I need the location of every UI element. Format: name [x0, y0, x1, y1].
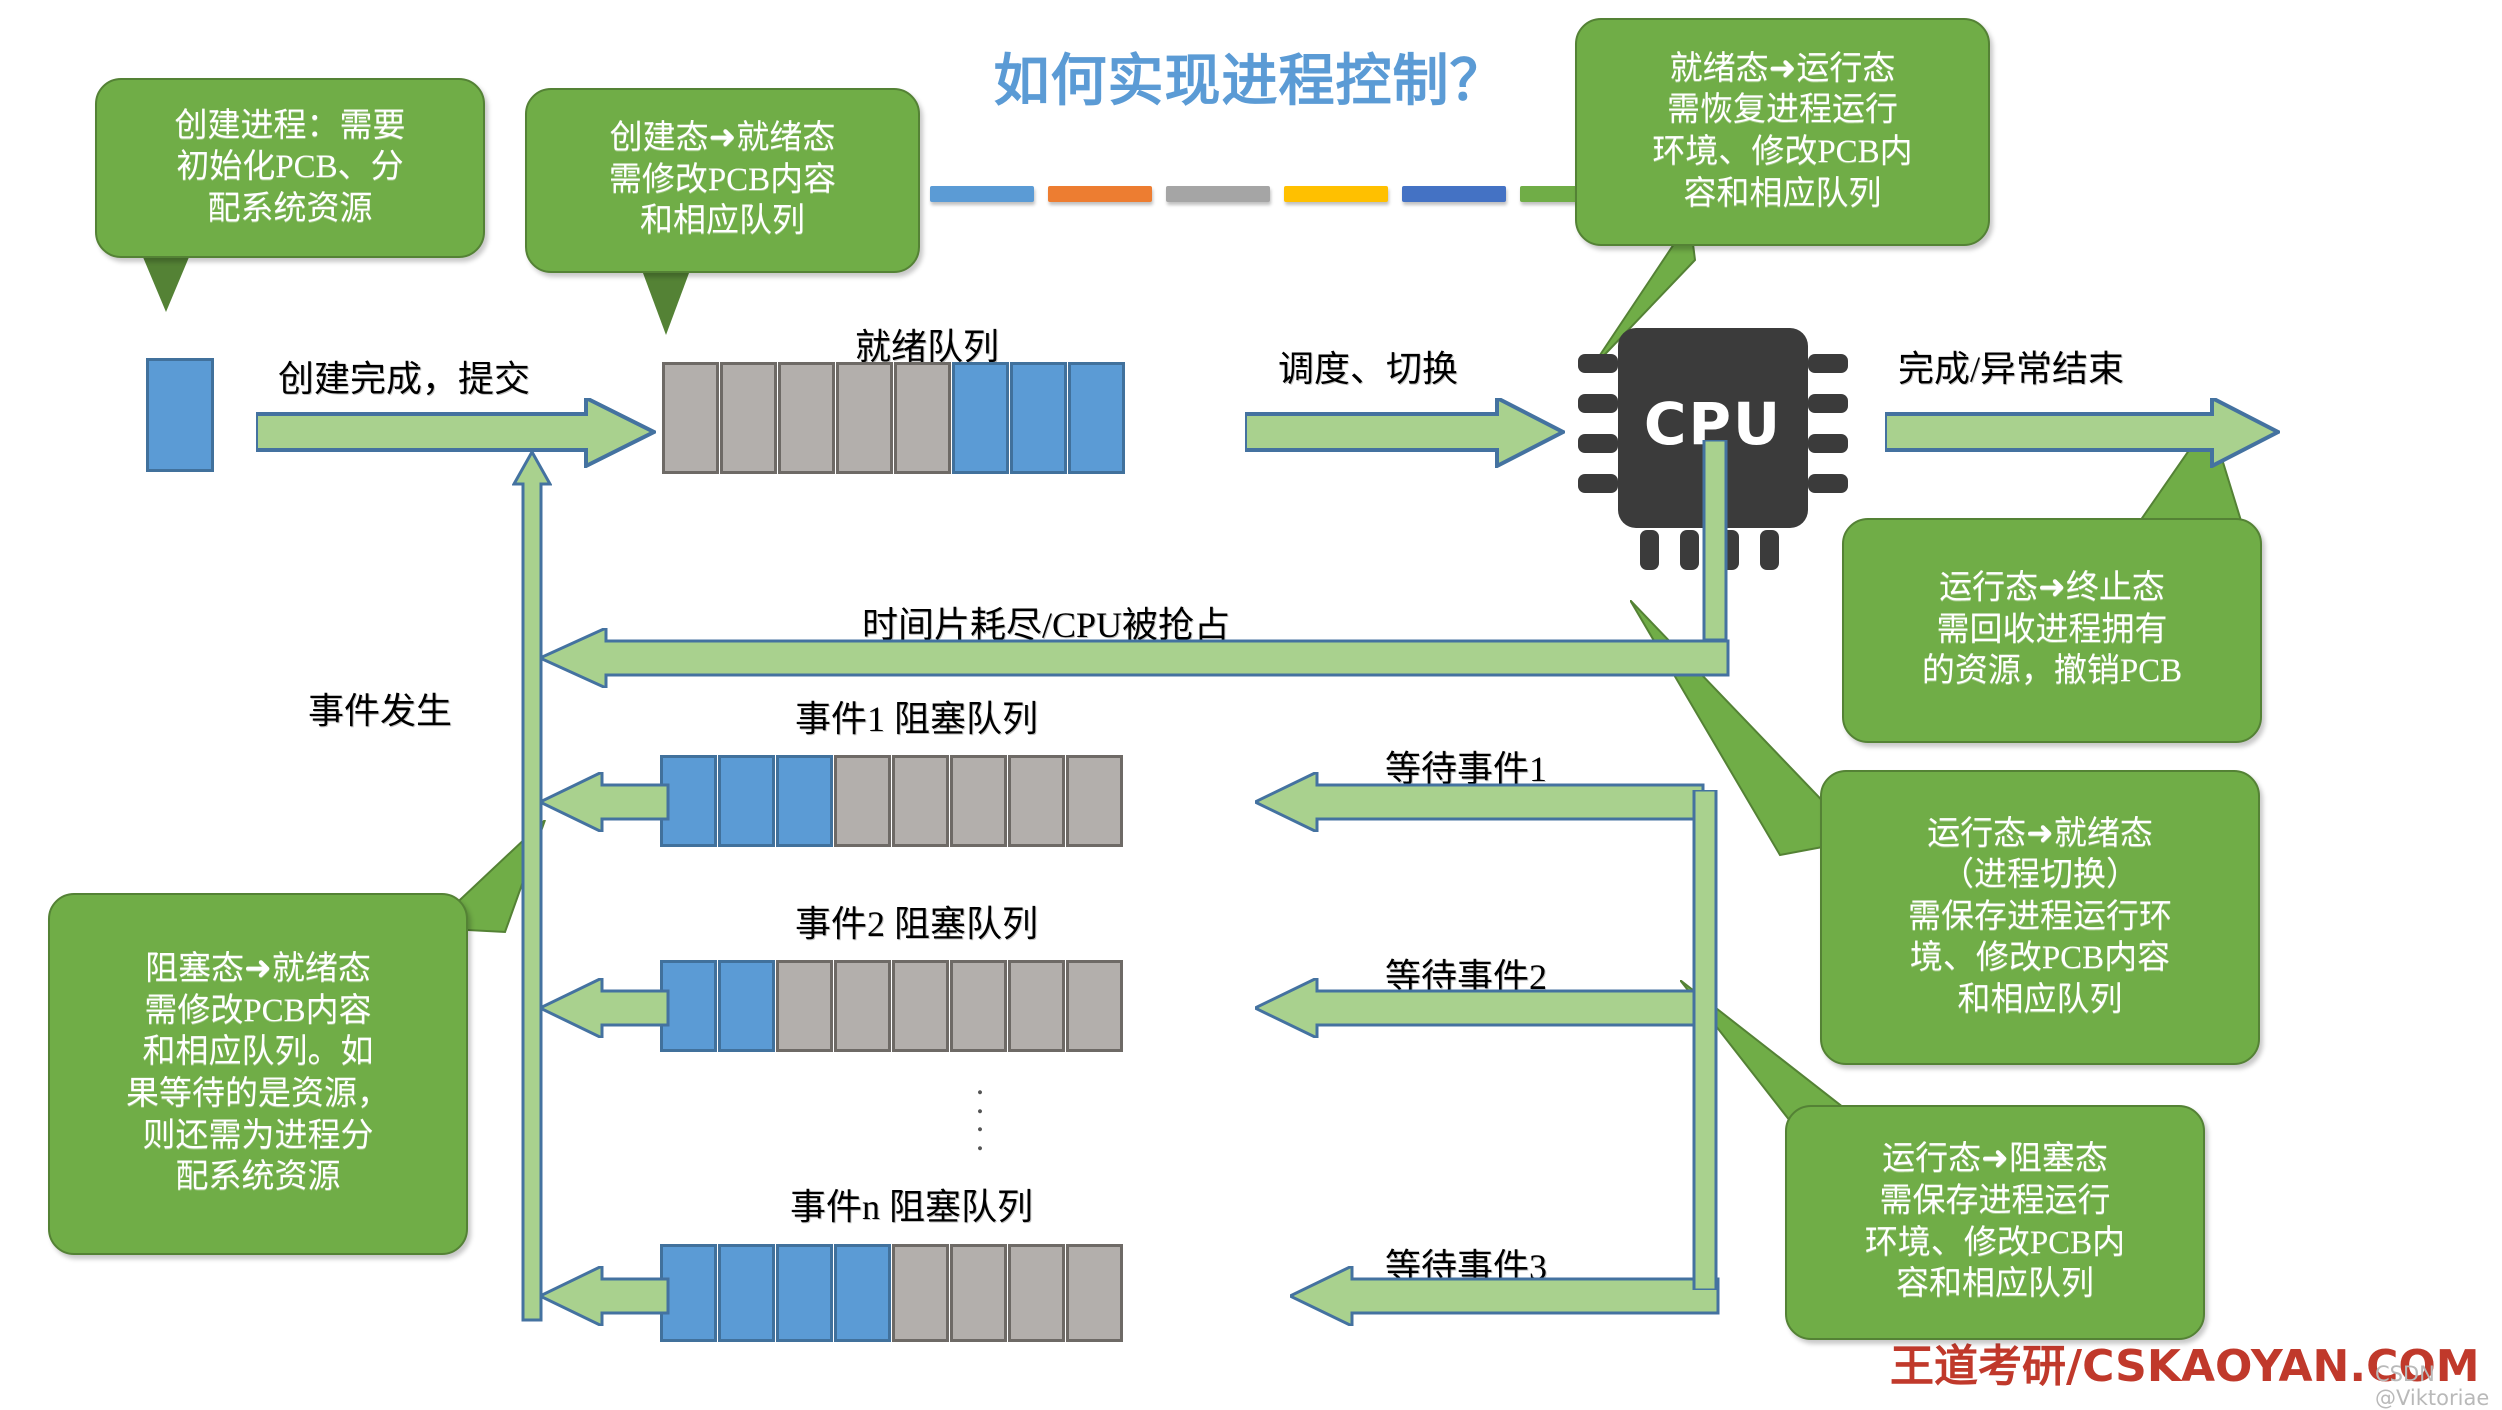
title-color-bar: [930, 186, 1570, 204]
callout-create-process: 创建进程：需要 初始化PCB、分 配系统资源: [95, 78, 485, 258]
label-event-occurs: 事件发生: [308, 682, 452, 734]
queue-cell: [894, 362, 951, 474]
queue-cell: [1068, 362, 1125, 474]
queue-cell: [836, 362, 893, 474]
arrow-wait-event-3: [1290, 1266, 1720, 1326]
arrow-return-to-ready: [512, 452, 552, 1322]
callout-text: 创建进程：需要 初始化PCB、分 配系统资源: [175, 106, 406, 231]
queue-cell: [662, 362, 719, 474]
label-block-queue-n: 事件n 阻塞队列: [790, 1178, 1033, 1230]
callout-text: 运行态➜终止态 需回收进程拥有 的资源，撤销PCB: [1922, 568, 2182, 693]
cpu-pin: [1808, 434, 1848, 453]
queue-cell: [1066, 755, 1123, 847]
page-title: 如何实现进程控制？: [930, 36, 1570, 117]
callout-blocked-to-ready: 阻塞态➜就绪态 需修改PCB内容 和相应队列。如 果等待的是资源， 则还需为进程…: [48, 893, 468, 1255]
cpu-pin: [1578, 394, 1618, 413]
queue-cell: [950, 960, 1007, 1052]
arrow-event1-out: [540, 772, 670, 832]
ellipsis-dot: .: [960, 1131, 1000, 1150]
queue-cell: [778, 362, 835, 474]
queue-cell: [892, 1244, 949, 1342]
callout-create-to-ready-tail: [640, 265, 692, 335]
queue-cell: [718, 755, 775, 847]
queue-cell: [1008, 755, 1065, 847]
callout-running-to-terminated: 运行态➜终止态 需回收进程拥有 的资源，撤销PCB: [1842, 518, 2262, 743]
bar-segment-4: [1284, 186, 1388, 202]
callout-running-to-ready: 运行态➜就绪态 （进程切换） 需保存进程运行环 境、修改PCB内容 和相应队列: [1820, 770, 2260, 1065]
bar-segment-2: [1048, 186, 1152, 202]
diagram-canvas: 如何实现进程控制？ 创建进程：需要 初始化PCB、分 配系统资源 创建态➜就绪态…: [0, 0, 2502, 1400]
ellipsis-vertical: . . . .: [960, 1075, 1000, 1150]
arrow-dispatch: [1245, 398, 1565, 468]
arrow-event2-out: [540, 978, 670, 1038]
queue-cell: [1066, 960, 1123, 1052]
queue-cell: [1008, 960, 1065, 1052]
queue-cell: [834, 1244, 891, 1342]
cpu-pin: [1578, 354, 1618, 373]
queue-cell: [892, 755, 949, 847]
cpu-pin: [1760, 530, 1779, 570]
callout-ready-to-running: 就绪态➜运行态 需恢复进程运行 环境、修改PCB内 容和相应队列: [1575, 18, 1990, 246]
callout-text: 就绪态➜运行态 需恢复进程运行 环境、修改PCB内 容和相应队列: [1652, 49, 1912, 215]
queue-cell: [950, 1244, 1007, 1342]
arrow-wait-event-2: [1255, 978, 1705, 1038]
queue-cell: [892, 960, 949, 1052]
label-block-queue-2: 事件2 阻塞队列: [795, 895, 1038, 947]
arrow-timeslice-return: [1700, 440, 1730, 640]
callout-text: 运行态➜阻塞态 需保存进程运行 环境、修改PCB内 容和相应队列: [1865, 1139, 2125, 1305]
label-dispatch: 调度、切换: [1278, 340, 1458, 392]
queue-cell: [720, 362, 777, 474]
cpu-pin: [1808, 474, 1848, 493]
arrow-submit: [256, 398, 656, 468]
bar-segment-3: [1166, 186, 1270, 202]
callout-text: 创建态➜就绪态 需修改PCB内容 和相应队列: [609, 118, 836, 243]
cpu-pin: [1640, 530, 1659, 570]
queue-cell: [776, 755, 833, 847]
queue-cell: [1066, 1244, 1123, 1342]
arrow-timeslice: [540, 628, 1730, 688]
arrow-finish: [1885, 398, 2280, 468]
queue-cell: [1010, 362, 1067, 474]
queue-cell: [776, 1244, 833, 1342]
queue-cell: [834, 755, 891, 847]
bar-segment-5: [1402, 186, 1506, 202]
arrow-wait-event-1: [1255, 772, 1705, 832]
queue-cell: [952, 362, 1009, 474]
callout-create-process-tail: [140, 250, 192, 312]
cpu-pin: [1808, 394, 1848, 413]
label-finish: 完成/异常结束: [1898, 340, 2124, 392]
label-submit: 创建完成，提交: [278, 350, 530, 402]
callout-text: 运行态➜就绪态 （进程切换） 需保存进程运行环 境、修改PCB内容 和相应队列: [1908, 814, 2172, 1022]
new-process-block: [146, 358, 214, 472]
cpu-pin: [1578, 434, 1618, 453]
queue-cell: [1008, 1244, 1065, 1342]
queue-cell: [950, 755, 1007, 847]
queue-cell: [834, 960, 891, 1052]
callout-text: 阻塞态➜就绪态 需修改PCB内容 和相应队列。如 果等待的是资源， 则还需为进程…: [126, 949, 390, 1198]
cpu-pin: [1680, 530, 1699, 570]
watermark-sub: CSDN @Viktoriae: [2375, 1362, 2502, 1410]
callout-running-to-blocked: 运行态➜阻塞态 需保存进程运行 环境、修改PCB内 容和相应队列: [1785, 1105, 2205, 1340]
queue-cell: [718, 960, 775, 1052]
arrow-eventn-out: [540, 1266, 670, 1326]
callout-create-to-ready: 创建态➜就绪态 需修改PCB内容 和相应队列: [525, 88, 920, 273]
cpu-pin: [1808, 354, 1848, 373]
bar-segment-1: [930, 186, 1034, 202]
queue-cell: [718, 1244, 775, 1342]
label-block-queue-1: 事件1 阻塞队列: [795, 690, 1038, 742]
connector-blocked-right: [1690, 790, 1720, 1290]
cpu-pin: [1578, 474, 1618, 493]
queue-cell: [776, 960, 833, 1052]
